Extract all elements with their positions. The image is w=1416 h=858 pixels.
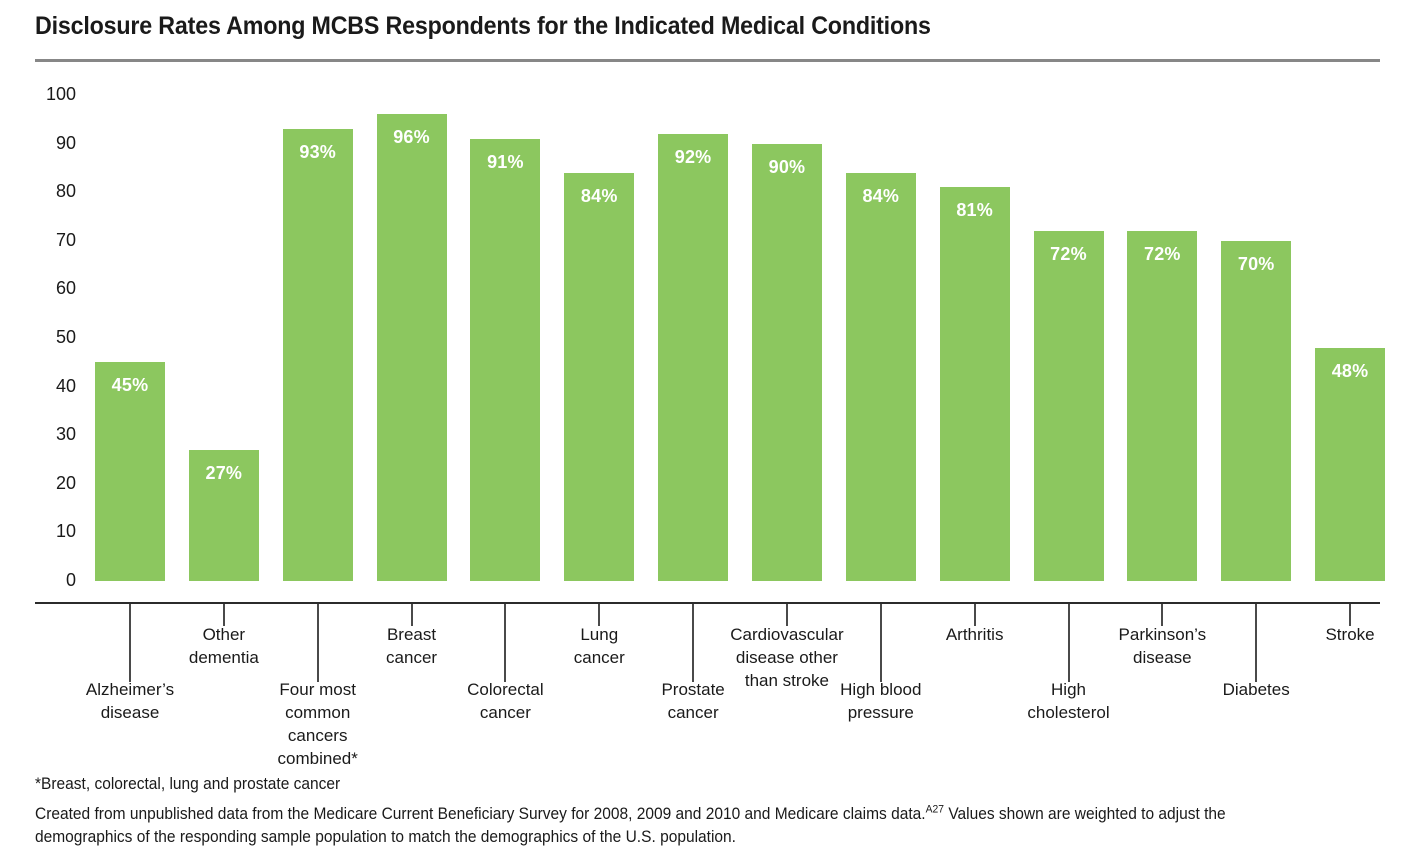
bar-value-label: 93% [283,142,353,163]
bar-value-label: 84% [846,186,916,207]
bar[interactable]: 70% [1221,241,1291,581]
bar[interactable]: 45% [95,362,165,581]
y-axis-tick-label: 90 [28,133,76,154]
x-axis-category-label-line: disease [101,703,160,722]
bar-value-label: 70% [1221,254,1291,275]
x-axis-tick [317,604,319,682]
bar[interactable]: 84% [846,173,916,581]
x-axis-category-label: Arthritis [900,623,1050,646]
y-axis-tick-label: 10 [28,521,76,542]
x-axis-category-label: Highcholesterol [994,678,1144,724]
bar[interactable]: 92% [658,134,728,581]
x-axis-category-label-line: Stroke [1325,625,1374,644]
x-axis-category-label: Breastcancer [337,623,487,669]
x-axis-category-label-line: cancer [574,648,625,667]
plot-area: 0102030405060708090100 45%27%93%96%91%84… [0,0,1416,858]
x-axis-category-label-line: Alzheimer’s [86,680,174,699]
bar[interactable]: 91% [470,139,540,581]
bar[interactable]: 93% [283,129,353,581]
y-axis-tick-label: 30 [28,424,76,445]
x-axis-category-label-line: pressure [848,703,914,722]
x-axis-category-label-line: combined* [278,749,358,768]
y-axis-tick-label: 20 [28,473,76,494]
x-axis-category-label-line: Breast [387,625,436,644]
x-axis-tick [129,604,131,682]
x-axis-tick [1255,604,1257,682]
bar-value-label: 84% [564,186,634,207]
y-axis-tick-label: 60 [28,278,76,299]
x-axis-category-label-line: Arthritis [946,625,1004,644]
x-axis-category-label-line: High blood [840,680,921,699]
bar[interactable]: 27% [189,450,259,581]
bar-value-label: 72% [1127,244,1197,265]
x-axis-category-label-line: Parkinson’s [1119,625,1207,644]
x-axis-category-label: Otherdementia [149,623,299,669]
bar[interactable]: 90% [752,144,822,581]
x-axis-category-label-line: cancers [288,726,348,745]
bar-value-label: 90% [752,157,822,178]
bar[interactable]: 84% [564,173,634,581]
y-axis-tick-label: 80 [28,181,76,202]
x-axis-category-label-line: disease [1133,648,1192,667]
footnote-asterisk: *Breast, colorectal, lung and prostate c… [35,775,787,794]
x-axis-category-label-line: disease other [736,648,838,667]
x-axis-category-label-line: cancer [480,703,531,722]
bar[interactable]: 96% [377,114,447,581]
x-axis-category-label: Four mostcommoncancerscombined* [243,678,393,770]
x-axis-category-label-line: common [285,703,350,722]
x-axis-category-label: Stroke [1275,623,1416,646]
bar[interactable]: 48% [1315,348,1385,581]
bar[interactable]: 72% [1127,231,1197,581]
x-axis-category-label-line: Cardiovascular [730,625,843,644]
footnote-source: Created from unpublished data from the M… [35,803,1285,849]
x-axis-category-label-line: dementia [189,648,259,667]
y-axis-tick-label: 50 [28,327,76,348]
footnote-source-text-1: Created from unpublished data from the M… [35,805,926,823]
footnote-superscript-ref: A27 [926,804,944,816]
x-axis-category-label: High bloodpressure [806,678,956,724]
x-axis-category-label-line: Diabetes [1223,680,1290,699]
y-axis-tick-label: 0 [28,570,76,591]
x-axis-category-label-line: cancer [668,703,719,722]
x-axis-tick [504,604,506,682]
x-axis-tick [692,604,694,682]
bar-value-label: 27% [189,463,259,484]
bar-value-label: 92% [658,147,728,168]
bar-value-label: 45% [95,375,165,396]
x-axis-category-label: Parkinson’sdisease [1087,623,1237,669]
x-axis-category-label-line: cancer [386,648,437,667]
x-axis-category-label-line: cholesterol [1027,703,1109,722]
x-axis-line [35,602,1380,604]
x-axis-category-label-line: High [1051,680,1086,699]
bar-value-label: 48% [1315,361,1385,382]
x-axis-category-label: Alzheimer’sdisease [55,678,205,724]
bar-value-label: 72% [1034,244,1104,265]
x-axis-category-label: Lungcancer [524,623,674,669]
x-axis-category-label-line: Colorectal [467,680,544,699]
x-axis-category-label-line: Four most [279,680,356,699]
x-axis-category-label-line: Other [203,625,246,644]
x-axis-tick [880,604,882,682]
x-axis-category-label-line: Lung [580,625,618,644]
bar-value-label: 91% [470,152,540,173]
bar[interactable]: 81% [940,187,1010,581]
bar-value-label: 96% [377,127,447,148]
y-axis-tick-label: 70 [28,230,76,251]
y-axis: 0102030405060708090100 [28,0,76,858]
x-axis-category-label: Diabetes [1181,678,1331,701]
bar-value-label: 81% [940,200,1010,221]
bar[interactable]: 72% [1034,231,1104,581]
chart-page: Disclosure Rates Among MCBS Respondents … [0,0,1416,858]
x-axis-category-label: Colorectalcancer [430,678,580,724]
y-axis-tick-label: 40 [28,376,76,397]
y-axis-tick-label: 100 [28,84,76,105]
x-axis-tick [1068,604,1070,682]
